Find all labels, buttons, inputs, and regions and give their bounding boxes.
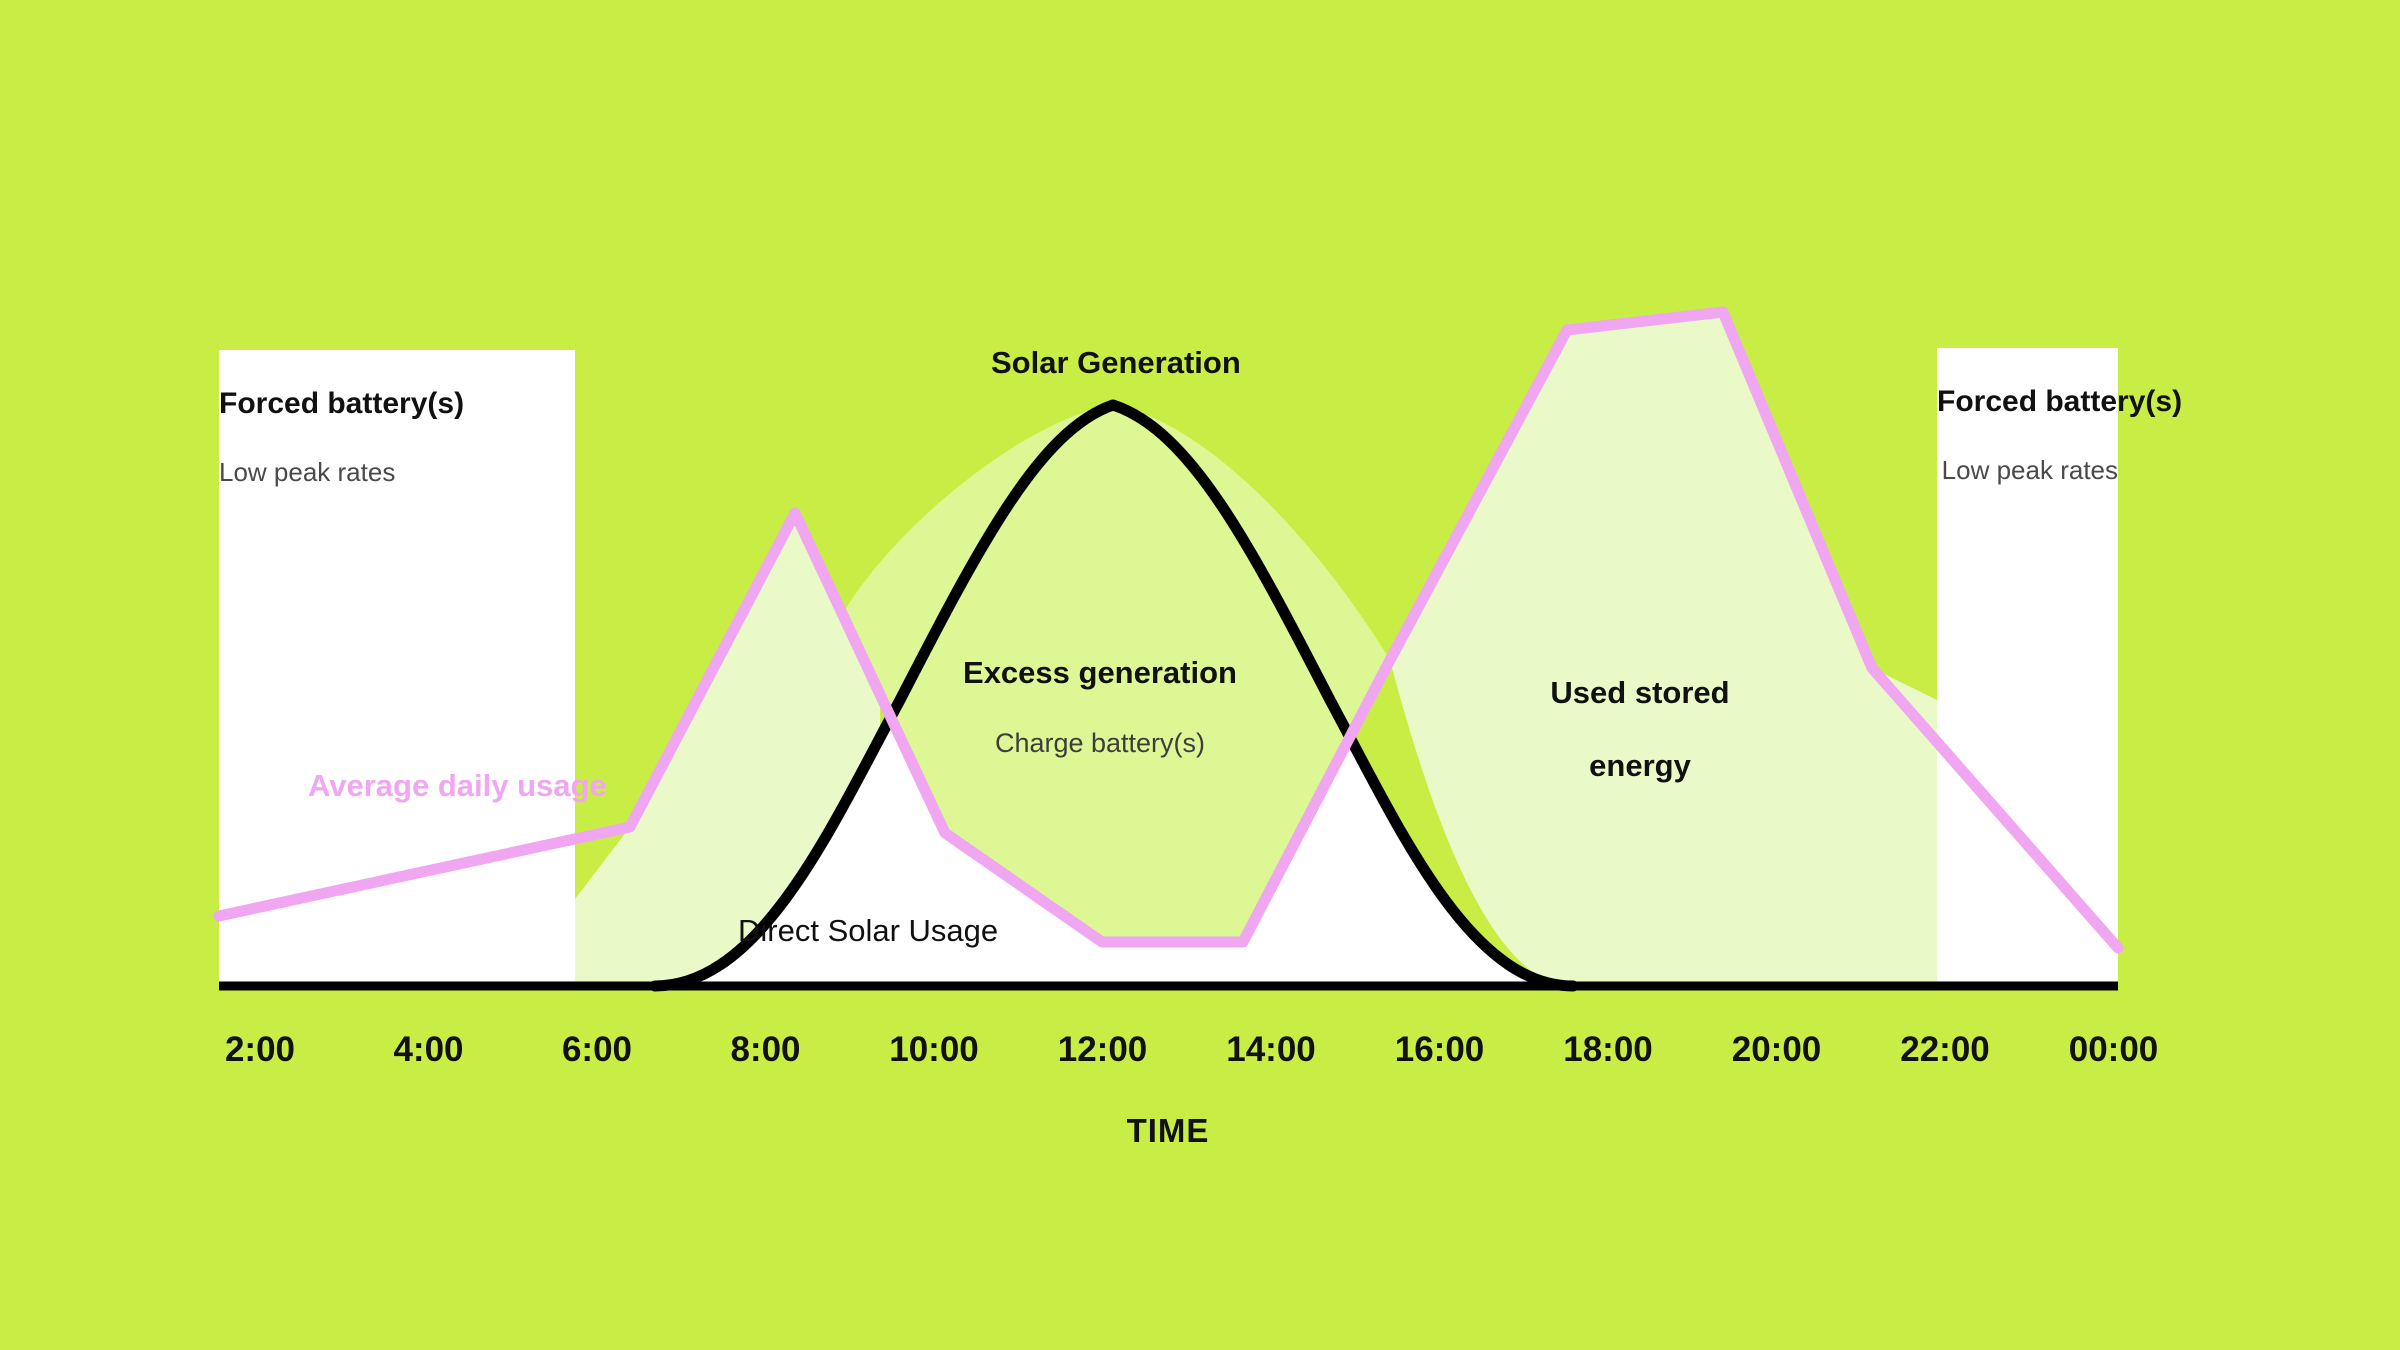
x-axis-tick-00-00: 00:00 [2069, 1030, 2159, 1070]
forced-battery-left-subtitle: Low peak rates [219, 457, 575, 488]
forced-battery-right-annotation: Forced battery(s) Low peak rates [1937, 348, 2118, 522]
forced-battery-left-title: Forced battery(s) [219, 386, 575, 421]
x-axis-tick-10-00: 10:00 [889, 1030, 979, 1070]
forced-battery-left-annotation: Forced battery(s) Low peak rates [219, 350, 575, 524]
forced-battery-right-title: Forced battery(s) [1937, 384, 2118, 419]
excess-generation-subtitle: Charge battery(s) [950, 727, 1250, 759]
x-axis-tick-4-00: 4:00 [393, 1030, 463, 1070]
used-stored-energy-annotation: Used stored energy [1490, 638, 1790, 820]
direct-solar-usage-label: Direct Solar Usage [738, 913, 998, 949]
chart-canvas: Forced battery(s) Low peak rates Forced … [0, 0, 2400, 1350]
x-axis-tick-16-00: 16:00 [1395, 1030, 1485, 1070]
used-stored-energy-line-2: energy [1490, 747, 1790, 784]
x-axis-tick-22-00: 22:00 [1900, 1030, 1990, 1070]
x-axis-title: TIME [1127, 1112, 1210, 1150]
forced-battery-right-subtitle: Low peak rates [1937, 455, 2118, 486]
x-axis-tick-12-00: 12:00 [1058, 1030, 1148, 1070]
used-stored-energy-line-1: Used stored [1490, 674, 1790, 711]
x-axis-tick-2-00: 2:00 [225, 1030, 295, 1070]
x-axis-tick-18-00: 18:00 [1563, 1030, 1653, 1070]
x-axis-tick-8-00: 8:00 [730, 1030, 800, 1070]
solar-generation-label: Solar Generation [991, 345, 1241, 381]
x-axis-tick-6-00: 6:00 [562, 1030, 632, 1070]
x-axis-tick-20-00: 20:00 [1732, 1030, 1822, 1070]
average-daily-usage-label: Average daily usage [308, 768, 607, 804]
excess-generation-annotation: Excess generation Charge battery(s) [950, 618, 1250, 796]
x-axis-tick-14-00: 14:00 [1226, 1030, 1316, 1070]
excess-generation-title: Excess generation [950, 654, 1250, 691]
